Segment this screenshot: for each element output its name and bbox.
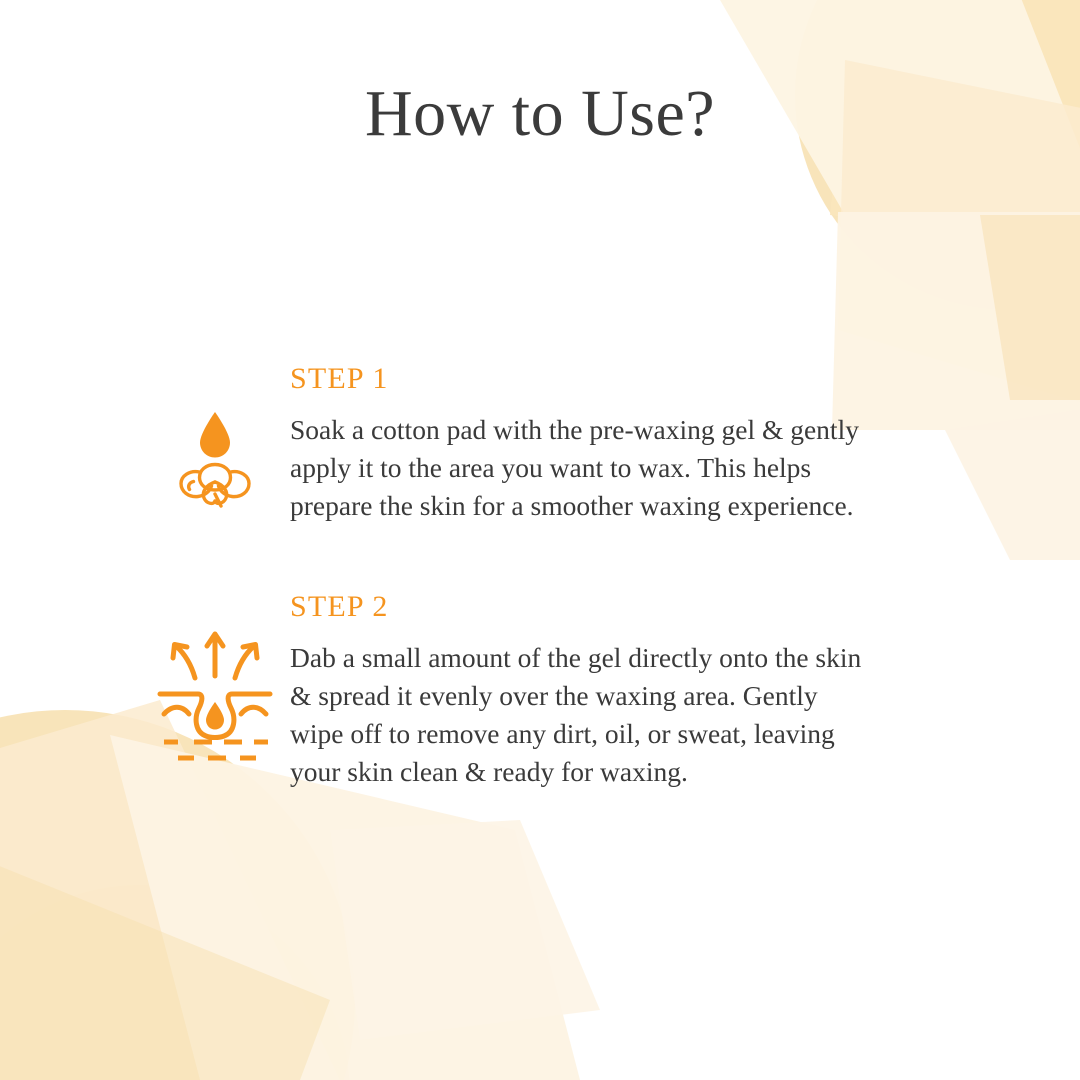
cotton-puff-inner	[189, 482, 194, 490]
step-2-text-line-3: wipe off to remove any dirt, oil, or swe…	[290, 715, 1005, 753]
page-title: How to Use?	[0, 78, 1080, 151]
step-1-text: Soak a cotton pad with the pre-waxing ge…	[290, 411, 1005, 525]
how-to-use-card: How to Use?	[0, 0, 1080, 1080]
step-2-icon-wrapper	[140, 590, 290, 762]
cotton-puff-left	[181, 472, 212, 497]
pore-droplet-shape	[206, 702, 224, 730]
cotton-pad-droplet-icon	[172, 406, 258, 510]
step-item-1: STEP 1 Soak a cotton pad with the pre-wa…	[140, 362, 1040, 525]
step-item-2: STEP 2 Dab a small amount of the gel dir…	[140, 590, 1040, 791]
step-2-text-line-1: Dab a small amount of the gel directly o…	[290, 639, 1005, 677]
droplet-shape	[200, 412, 230, 458]
step-1-text-line-2: apply it to the area you want to wax. Th…	[290, 449, 1005, 487]
step-2-text-line-4: your skin clean & ready for waxing.	[290, 753, 1005, 791]
cotton-puff-top	[200, 465, 231, 491]
step-2-label: STEP 2	[290, 590, 1040, 623]
arrow-up-left-shaft	[176, 646, 195, 678]
step-2-text-line-2: & spread it evenly over the waxing area.…	[290, 677, 1005, 715]
skin-wave-left	[164, 707, 189, 714]
skin-wave-right	[241, 707, 266, 714]
arrow-up-right-shaft	[235, 646, 254, 678]
step-2-text: Dab a small amount of the gel directly o…	[290, 639, 1005, 791]
cotton-puff-right	[219, 472, 250, 497]
step-1-text-line-1: Soak a cotton pad with the pre-waxing ge…	[290, 411, 1005, 449]
step-2-body: STEP 2 Dab a small amount of the gel dir…	[290, 590, 1040, 791]
skin-pore-absorption-icon	[154, 622, 276, 762]
step-1-icon-wrapper	[140, 362, 290, 510]
step-1-label: STEP 1	[290, 362, 1040, 395]
step-1-text-line-3: prepare the skin for a smoother waxing e…	[290, 487, 1005, 525]
step-1-body: STEP 1 Soak a cotton pad with the pre-wa…	[290, 362, 1040, 525]
